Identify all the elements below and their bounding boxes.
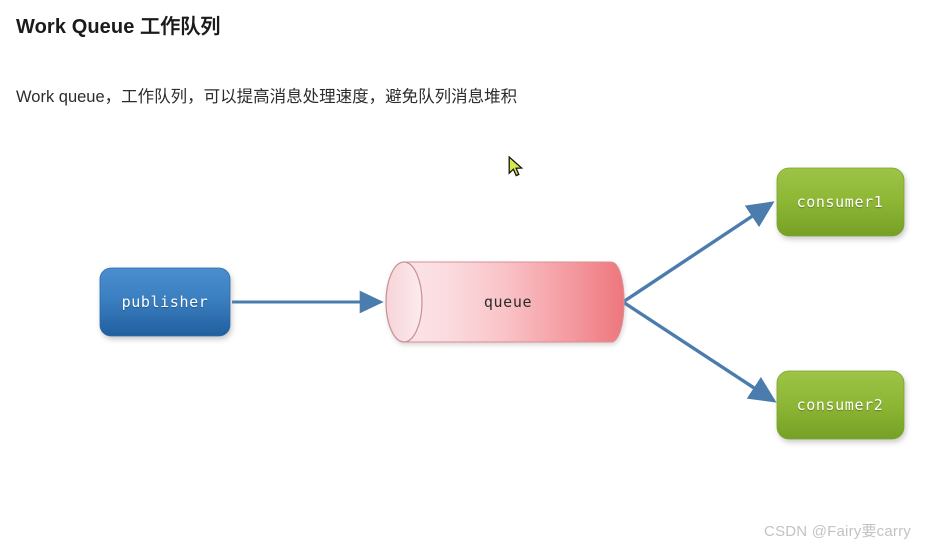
- diagram-canvas: [0, 0, 929, 553]
- consumer1-box[interactable]: [777, 168, 904, 236]
- queue-cylinder-body[interactable]: [404, 262, 624, 342]
- work-queue-diagram: publisher queue consumer1 consumer2: [0, 0, 929, 553]
- queue-cylinder-cap: [386, 262, 422, 342]
- node-publisher[interactable]: [100, 268, 230, 336]
- node-queue[interactable]: [386, 262, 624, 342]
- diagram-page: Work Queue 工作队列 Work queue，工作队列，可以提高消息处理…: [0, 0, 929, 553]
- consumer2-box[interactable]: [777, 371, 904, 439]
- node-consumer2[interactable]: [777, 371, 904, 439]
- csdn-watermark: CSDN @Fairy要carry: [764, 520, 911, 541]
- publisher-box[interactable]: [100, 268, 230, 336]
- edge-queue-to-consumer1: [623, 203, 772, 302]
- mouse-pointer-icon: [508, 156, 524, 178]
- node-consumer1[interactable]: [777, 168, 904, 236]
- edge-queue-to-consumer2: [623, 302, 774, 401]
